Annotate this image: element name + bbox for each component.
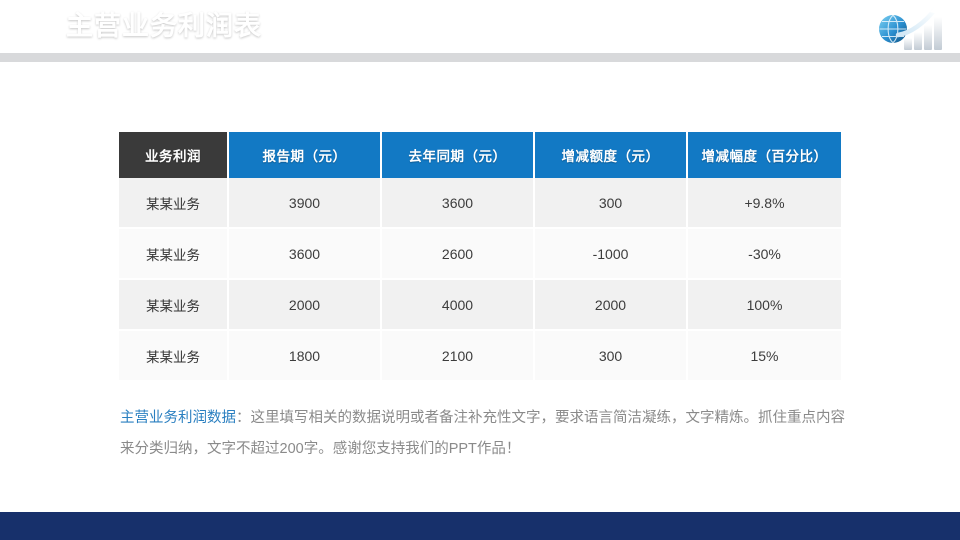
cell-report-period: 3900	[229, 178, 382, 229]
cell-change-amount: 300	[535, 178, 688, 229]
footer-bar	[0, 512, 960, 540]
page-title: 主营业务利润表	[66, 7, 262, 45]
slide: 主营业务利润表	[0, 0, 960, 540]
cell-last-year: 4000	[382, 280, 535, 331]
cell-report-period: 3600	[229, 229, 382, 280]
double-chevron-right-icon	[18, 13, 62, 39]
column-header-change-amount: 增减额度（元）	[535, 132, 688, 178]
column-header-business: 业务利润	[119, 132, 229, 178]
cell-last-year: 3600	[382, 178, 535, 229]
cell-change-rate: 100%	[688, 280, 841, 331]
table-row: 某某业务 3600 2600 -1000 -30%	[119, 229, 841, 280]
cell-business-name: 某某业务	[119, 331, 229, 380]
cell-business-name: 某某业务	[119, 229, 229, 280]
cell-change-amount: -1000	[535, 229, 688, 280]
cell-last-year: 2100	[382, 331, 535, 380]
header-bar: 主营业务利润表	[0, 0, 960, 53]
table-row: 某某业务 3900 3600 300 +9.8%	[119, 178, 841, 229]
note-paragraph: 主营业务利润数据：这里填写相关的数据说明或者备注补充性文字，要求语言简洁凝练，文…	[120, 403, 850, 465]
cell-report-period: 1800	[229, 331, 382, 380]
cell-last-year: 2600	[382, 229, 535, 280]
cell-business-name: 某某业务	[119, 280, 229, 331]
cell-business-name: 某某业务	[119, 178, 229, 229]
table-header-row: 业务利润 报告期（元） 去年同期（元） 增减额度（元） 增减幅度（百分比）	[119, 132, 841, 178]
column-header-last-year: 去年同期（元）	[382, 132, 535, 178]
note-accent-label: 主营业务利润数据	[120, 410, 236, 426]
cell-change-amount: 2000	[535, 280, 688, 331]
table-row: 某某业务 1800 2100 300 15%	[119, 331, 841, 380]
cell-report-period: 2000	[229, 280, 382, 331]
cell-change-rate: +9.8%	[688, 178, 841, 229]
globe-growth-chart-icon	[876, 2, 952, 52]
column-header-change-rate: 增减幅度（百分比）	[688, 132, 841, 178]
cell-change-rate: -30%	[688, 229, 841, 280]
cell-change-amount: 300	[535, 331, 688, 380]
cell-change-rate: 15%	[688, 331, 841, 380]
table-row: 某某业务 2000 4000 2000 100%	[119, 280, 841, 331]
column-header-report-period: 报告期（元）	[229, 132, 382, 178]
profit-table: 业务利润 报告期（元） 去年同期（元） 增减额度（元） 增减幅度（百分比） 某某…	[119, 132, 841, 380]
header-divider-strip	[0, 53, 960, 62]
profit-table-container: 业务利润 报告期（元） 去年同期（元） 增减额度（元） 增减幅度（百分比） 某某…	[119, 132, 841, 380]
